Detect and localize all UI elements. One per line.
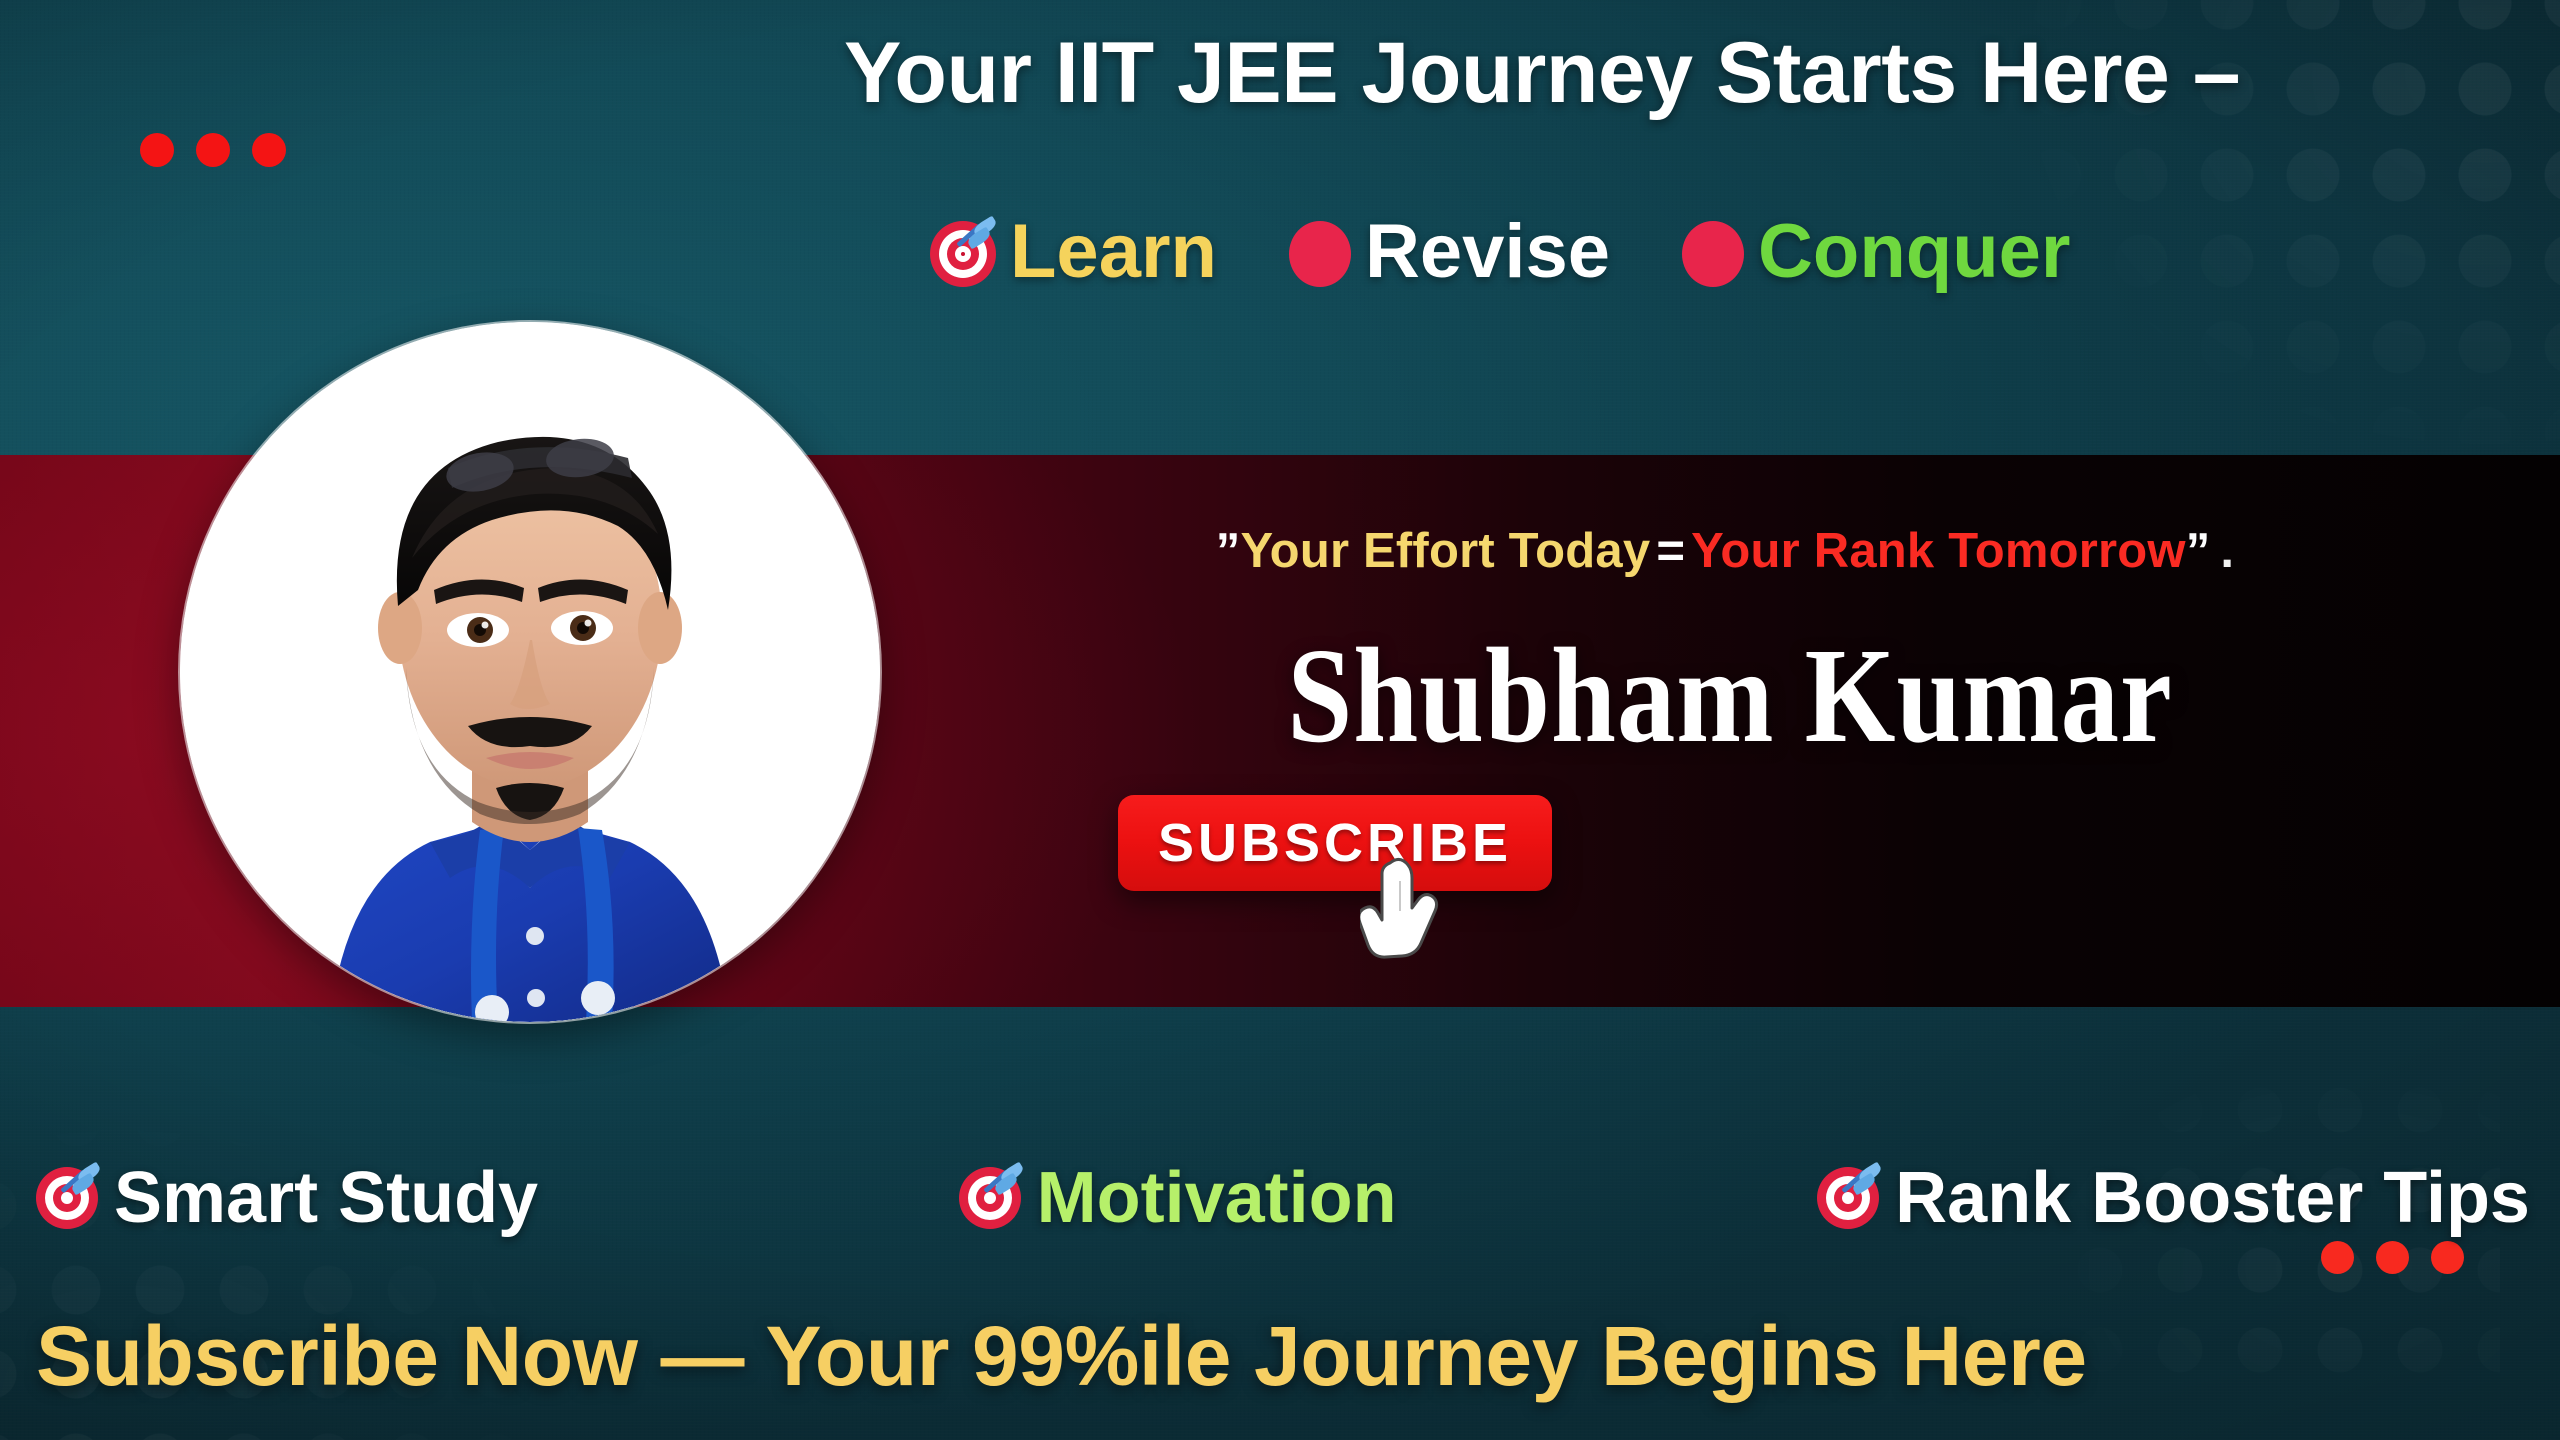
red-dot — [2321, 1241, 2354, 1274]
keyword-row: Learn Revise Conquer — [930, 216, 2530, 292]
keyword-label-revise: Revise — [1365, 214, 1610, 290]
quote-equals-sign: = — [1650, 524, 1691, 578]
creator-portrait-photo — [180, 322, 880, 1022]
cta-text: Subscribe Now — Your 99%ile Journey Begi… — [36, 1312, 2087, 1400]
quote-line: ”Your Effort Today=Your Rank Tomorrow”. — [1015, 527, 2435, 576]
youtube-thumbnail-canvas: Your IIT JEE Journey Starts Here – Learn… — [0, 0, 2560, 1440]
keyword-conquer: Conquer — [1682, 216, 2070, 292]
red-circle-icon — [1289, 221, 1351, 287]
keyword-learn: Learn — [930, 216, 1217, 292]
keyword-label-conquer: Conquer — [1758, 214, 2070, 290]
avatar-ring — [180, 322, 880, 1022]
target-icon — [930, 221, 996, 287]
red-dot — [196, 133, 230, 167]
quote-close-mark: ” — [2186, 524, 2211, 578]
feature-row: Smart Study Motivation Rank Booster Tips — [36, 1162, 2530, 1234]
red-dot — [2431, 1241, 2464, 1274]
red-dot — [2376, 1241, 2409, 1274]
quote-part-rank: Your Rank Tomorrow — [1691, 524, 2186, 578]
red-dots-decoration-bottom-right — [2321, 1241, 2464, 1274]
quote-open-mark: ” — [1216, 524, 1241, 578]
red-dot — [252, 133, 286, 167]
red-circle-icon — [1682, 221, 1744, 287]
keyword-label-learn: Learn — [1010, 214, 1217, 290]
creator-name: Shubham Kumar — [1102, 628, 2358, 764]
red-dots-decoration-top-left — [140, 133, 286, 167]
headline-title: Your IIT JEE Journey Starts Here – — [560, 28, 2524, 118]
feature-label-motivation: Motivation — [1037, 1162, 1397, 1234]
feature-rank-booster-tips: Rank Booster Tips — [1817, 1162, 2530, 1234]
target-icon — [959, 1167, 1021, 1229]
feature-label-smart-study: Smart Study — [114, 1162, 538, 1234]
quote-part-effort: Your Effort Today — [1240, 524, 1650, 578]
feature-motivation: Motivation — [959, 1162, 1397, 1234]
avatar — [180, 322, 880, 1022]
quote-period: . — [2210, 524, 2234, 578]
target-icon — [36, 1167, 98, 1229]
subscribe-button[interactable]: SUBSCRIBE — [1118, 795, 1552, 891]
red-dot — [140, 133, 174, 167]
feature-smart-study: Smart Study — [36, 1162, 538, 1234]
feature-label-rank-booster-tips: Rank Booster Tips — [1895, 1162, 2530, 1234]
keyword-revise: Revise — [1289, 216, 1610, 292]
target-icon — [1817, 1167, 1879, 1229]
